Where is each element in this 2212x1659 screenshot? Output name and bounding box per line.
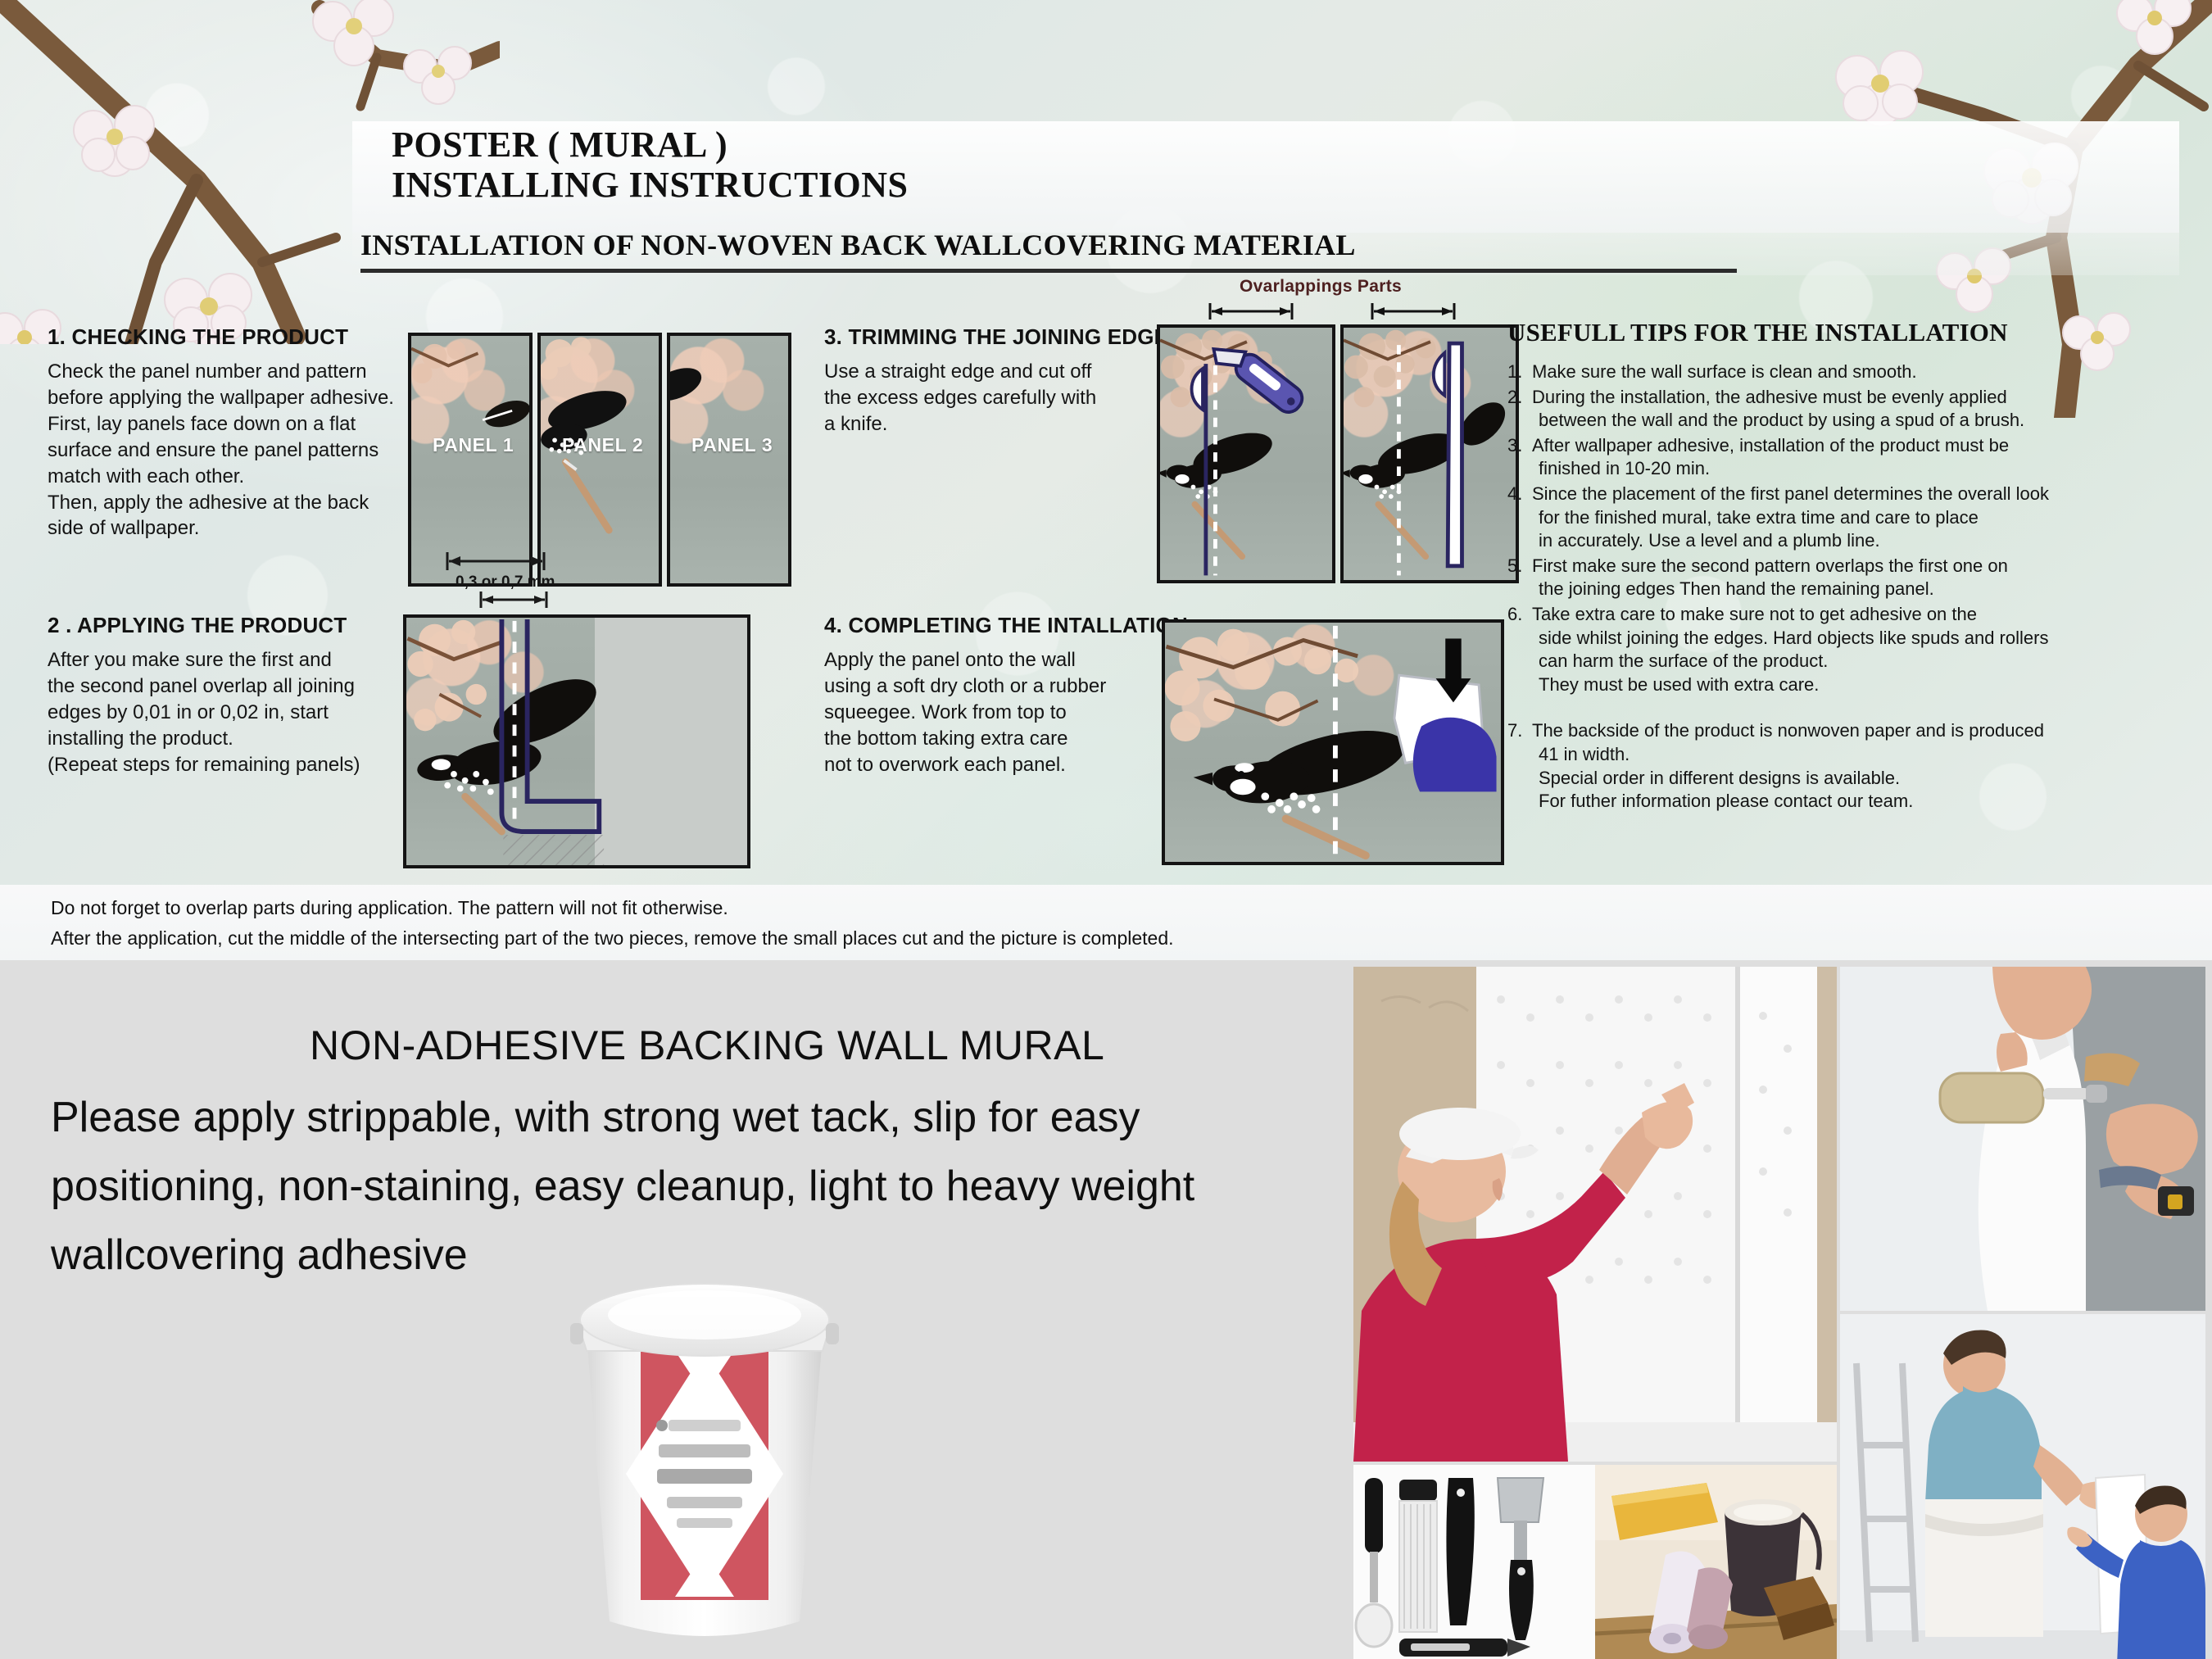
step-1-line: match with each other.	[48, 464, 424, 490]
step-4-line: not to overwork each panel.	[824, 752, 1152, 778]
tip-line: side whilst joining the edges. Hard obje…	[1532, 627, 2089, 650]
step-3-line: the excess edges carefully with	[824, 385, 1152, 411]
step-1-line: First, lay panels face down on a flat	[48, 411, 424, 437]
photo-man-and-boy-applying	[1840, 1314, 2205, 1659]
diagram-3-straight-edge	[1340, 324, 1519, 583]
product-heading: NON-ADHESIVE BACKING WALL MURAL	[310, 1022, 1104, 1069]
tip-number: 1.	[1507, 360, 1532, 384]
tip-line: 41 in width.	[1532, 743, 2089, 767]
photo-pasting-with-roller-art	[1840, 967, 2205, 1311]
tip-line: the joining edges Then hand the remainin…	[1532, 578, 2089, 601]
adhesive-bucket-icon	[541, 1251, 868, 1659]
photo-tools-grid	[1353, 1465, 1837, 1659]
photo-woman-hanging-wallpaper	[1353, 967, 1837, 1462]
poster-page: POSTER ( MURAL ) INSTALLING INSTRUCTIONS…	[0, 0, 2212, 1659]
tip-text: First make sure the second pattern overl…	[1532, 555, 2089, 601]
step-2-line: installing the product.	[48, 726, 433, 752]
tip-text: Since the placement of the first panel d…	[1532, 483, 2089, 553]
step-2-line: After you make sure the first and	[48, 647, 433, 673]
adhesive-bucket-image	[541, 1251, 868, 1659]
note-line: After the application, cut the middle of…	[51, 923, 2212, 954]
overlap-right-arrow-icon	[1368, 301, 1458, 321]
step-2-body: After you make sure the first and the se…	[48, 647, 433, 778]
tip-text: Make sure the wall surface is clean and …	[1532, 360, 2089, 384]
photo-man-and-boy-art	[1840, 1314, 2205, 1659]
diagram-2-artwork	[406, 618, 747, 865]
tip-number: 7.	[1507, 719, 1532, 813]
photo-paste-bucket-and-brush	[1595, 1465, 1837, 1659]
step-2-line: the second panel overlap all joining	[48, 673, 433, 700]
tip-item: 3. After wallpaper adhesive, installatio…	[1507, 434, 2089, 481]
tip-line: between the wall and the product by usin…	[1532, 409, 2089, 433]
step-1-line: Check the panel number and pattern	[48, 359, 424, 385]
tips-spacer	[1507, 698, 2089, 719]
tip-text: Take extra care to make sure not to get …	[1532, 603, 2089, 696]
step-1-line: Then, apply the adhesive at the back	[48, 490, 424, 516]
step-2-line: (Repeat steps for remaining panels)	[48, 752, 433, 778]
tip-line: For futher information please contact ou…	[1532, 790, 2089, 814]
tip-line: The backside of the product is nonwoven …	[1532, 720, 2044, 741]
tip-line: in accurately. Use a level and a plumb l…	[1532, 529, 2089, 553]
product-description-line: Please apply strippable, with strong wet…	[51, 1083, 1329, 1152]
panel-1-label: PANEL 1	[433, 434, 514, 456]
tip-item: 4. Since the placement of the first pane…	[1507, 483, 2089, 553]
tip-number: 2.	[1507, 386, 1532, 433]
step-4-line: the bottom taking extra care	[824, 726, 1152, 752]
tip-line: Special order in different designs is av…	[1532, 767, 2089, 791]
panel-3-artwork	[670, 336, 788, 583]
tip-line: They must be used with extra care.	[1532, 673, 2089, 697]
diagram-1-panel-2	[537, 333, 662, 587]
tip-item: 2. During the installation, the adhesive…	[1507, 386, 2089, 433]
tip-item: 6. Take extra care to make sure not to g…	[1507, 603, 2089, 696]
tip-text: After wallpaper adhesive, installation o…	[1532, 434, 2089, 481]
panel-3-label: PANEL 3	[691, 434, 773, 456]
panel-1-artwork	[411, 336, 529, 583]
tip-number: 4.	[1507, 483, 1532, 553]
tip-number: 3.	[1507, 434, 1532, 481]
diagram-3a-artwork	[1160, 328, 1332, 580]
overlap-left-arrow-icon	[1206, 301, 1296, 321]
step-1-checking-the-product: 1. CHECKING THE PRODUCT Check the panel …	[48, 324, 424, 542]
tip-line: for the finished mural, take extra time …	[1532, 506, 2089, 530]
tip-line: After wallpaper adhesive, installation o…	[1532, 435, 2009, 456]
step-3-line: Use a straight edge and cut off	[824, 359, 1152, 385]
product-description-line: positioning, non-staining, easy cleanup,…	[51, 1152, 1329, 1221]
panel-dimension-label: 0,3 or 0,7 mm	[456, 573, 555, 592]
tip-line: Make sure the wall surface is clean and …	[1532, 361, 1917, 382]
title-line-1: POSTER ( MURAL )	[392, 125, 1539, 165]
useful-tips-panel: USEFULL TIPS FOR THE INSTALLATION 1. Mak…	[1507, 318, 2089, 815]
dimension-arrow-icon	[442, 551, 549, 572]
photo-paste-bucket-and-brush-art	[1595, 1465, 1837, 1659]
tip-number: 6.	[1507, 603, 1532, 696]
step-3-heading: 3. TRIMMING THE JOINING EDGES	[824, 324, 1152, 350]
step-4-heading: 4. COMPLETING THE INTALLATION	[824, 613, 1152, 638]
step-4-line: using a soft dry cloth or a rubber	[824, 673, 1152, 700]
photo-pasting-with-roller	[1840, 967, 2205, 1311]
diagram-2-overlap-illustration	[403, 614, 750, 868]
step-2-heading: 2 . APPLYING THE PRODUCT	[48, 613, 433, 638]
tip-text: The backside of the product is nonwoven …	[1532, 719, 2089, 813]
step-2-applying-the-product: 2 . APPLYING THE PRODUCT After you make …	[48, 613, 433, 778]
overlap-notes-strip: Do not forget to overlap parts during ap…	[0, 885, 2212, 960]
diagram-1-panel-3	[667, 333, 791, 587]
tip-line: can harm the surface of the product.	[1532, 650, 2089, 673]
tip-text: During the installation, the adhesive mu…	[1532, 386, 2089, 433]
note-line: Do not forget to overlap parts during ap…	[51, 893, 2212, 923]
diagram-1-panel-1	[408, 333, 533, 587]
panel-2-label: PANEL 2	[562, 434, 643, 456]
step-4-line: squeegee. Work from top to	[824, 700, 1152, 726]
step-4-line: Apply the panel onto the wall	[824, 647, 1152, 673]
tip-item: 1. Make sure the wall surface is clean a…	[1507, 360, 2089, 384]
photo-wallpaper-tool-kit	[1353, 1465, 1595, 1659]
tip-line: Take extra care to make sure not to get …	[1532, 604, 1977, 624]
photo-woman-hanging-wallpaper-art	[1353, 967, 1837, 1462]
step-1-line: before applying the wallpaper adhesive.	[48, 385, 424, 411]
overlappings-parts-label: Ovarlappings Parts	[1240, 277, 1402, 297]
step-3-line: a knife.	[824, 411, 1152, 437]
photo-tools-and-supplies	[1353, 1465, 1837, 1659]
step-1-line: surface and ensure the panel patterns	[48, 437, 424, 464]
instructions-section: POSTER ( MURAL ) INSTALLING INSTRUCTIONS…	[0, 0, 2212, 960]
step-1-heading: 1. CHECKING THE PRODUCT	[48, 324, 424, 350]
tip-line: Since the placement of the first panel d…	[1532, 483, 2049, 504]
product-section: NON-ADHESIVE BACKING WALL MURAL Please a…	[0, 960, 2212, 1659]
overlap-dimension-arrow-icon	[477, 592, 551, 610]
tip-item: 5. First make sure the second pattern ov…	[1507, 555, 2089, 601]
diagram-4-artwork	[1165, 623, 1501, 862]
step-3-trimming-the-joining-edges: 3. TRIMMING THE JOINING EDGES Use a stra…	[824, 324, 1152, 437]
smoothing-brush-icon	[1399, 1480, 1437, 1632]
tip-item: 7. The backside of the product is nonwov…	[1507, 719, 2089, 813]
diagram-4-smoothing-illustration	[1162, 619, 1504, 865]
step-3-body: Use a straight edge and cut off the exce…	[824, 359, 1152, 437]
photo-wallpaper-tool-kit-art	[1353, 1465, 1595, 1659]
tip-line: finished in 10-20 min.	[1532, 457, 2089, 481]
step-4-completing-the-installation: 4. COMPLETING THE INTALLATION Apply the …	[824, 613, 1152, 778]
diagram-3-cutting-with-knife	[1157, 324, 1335, 583]
diagram-3b-artwork	[1344, 328, 1516, 580]
step-1-line: side of wallpaper.	[48, 515, 424, 542]
panel-2-artwork	[541, 336, 659, 583]
title-line-2: INSTALLING INSTRUCTIONS	[392, 165, 1539, 205]
utility-knife-icon	[1399, 1639, 1530, 1657]
step-2-line: edges by 0,01 in or 0,02 in, start	[48, 700, 433, 726]
page-subtitle: INSTALLATION OF NON-WOVEN BACK WALLCOVER…	[360, 228, 1737, 273]
tip-number: 5.	[1507, 555, 1532, 601]
tip-line: During the installation, the adhesive mu…	[1532, 387, 2007, 407]
page-title: POSTER ( MURAL ) INSTALLING INSTRUCTIONS	[392, 125, 1539, 206]
tip-line: First make sure the second pattern overl…	[1532, 555, 2008, 576]
step-4-body: Apply the panel onto the wall using a so…	[824, 647, 1152, 778]
tips-title: USEFULL TIPS FOR THE INSTALLATION	[1507, 318, 2089, 347]
step-1-body: Check the panel number and pattern befor…	[48, 359, 424, 542]
installation-photo-collage	[1353, 967, 2205, 1659]
